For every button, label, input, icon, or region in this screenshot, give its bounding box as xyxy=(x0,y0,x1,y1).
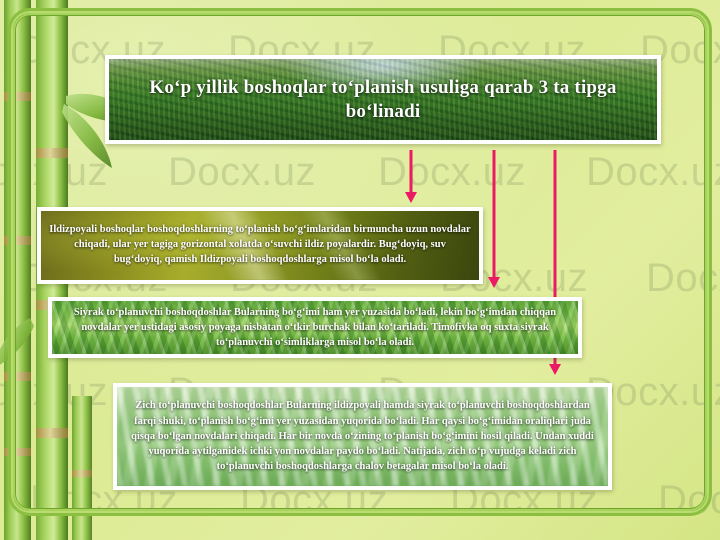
watermark: Docx.uz xyxy=(658,478,720,523)
slide-canvas: Docx.uz Docx.uz Docx.uz Docx.uz Docx.uz … xyxy=(0,0,720,540)
watermark: Docx.uz xyxy=(586,150,720,195)
content-box-siyrak: Siyrak to‘planuvchi boshoqdoshlar Bularn… xyxy=(48,297,582,358)
slide-title-card: Ko‘p yillik boshoqlar to‘planish usuliga… xyxy=(105,55,661,144)
watermark: Docx.uz xyxy=(378,150,526,195)
box2-text: Siyrak to‘planuvchi boshoqdoshlar Bularn… xyxy=(52,305,578,351)
content-box-ildizpoyali: Ildizpoyali boshoqlar boshoqdoshlarning … xyxy=(37,207,483,284)
arrow-to-box-2 xyxy=(487,150,501,288)
watermark: Docx.uz xyxy=(646,256,720,301)
watermark: Docx.uz xyxy=(0,370,108,415)
box1-text: Ildizpoyali boshoqlar boshoqdoshlarning … xyxy=(41,223,479,268)
arrow-to-box-1 xyxy=(404,150,418,203)
box3-text: Zich to‘planuvchi boshoqdoshlar Bularnin… xyxy=(117,398,608,475)
content-box-zich: Zich to‘planuvchi boshoqdoshlar Bularnin… xyxy=(113,383,612,490)
watermark: Docx.uz xyxy=(168,150,316,195)
watermark: Docx.uz xyxy=(0,150,108,195)
page-title: Ko‘p yillik boshoqlar to‘planish usuliga… xyxy=(109,76,657,124)
